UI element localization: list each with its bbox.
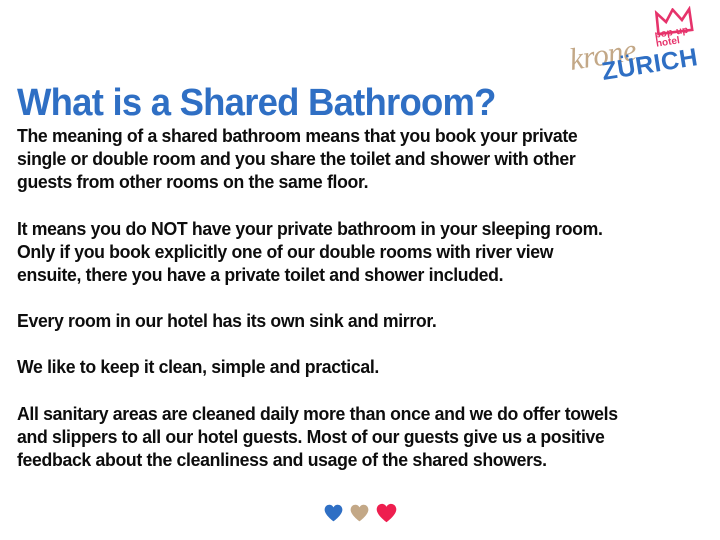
paragraph-clean-simple: We like to keep it clean, simple and pra… — [17, 355, 676, 378]
paragraph-sanitary: All sanitary areas are cleaned daily mor… — [17, 402, 676, 472]
paragraph-line: We like to keep it clean, simple and pra… — [17, 355, 676, 378]
paragraph-line: feedback about the cleanliness and usage… — [17, 448, 676, 471]
heart-icon-tan — [350, 504, 369, 522]
krone-zurich-logo: pop-up hotel krone ZÜRICH — [566, 2, 720, 100]
paragraph-line: It means you do NOT have your private ba… — [17, 217, 676, 240]
body-content: The meaning of a shared bathroom means t… — [17, 124, 707, 471]
paragraph-line: and slippers to all our hotel guests. Mo… — [17, 425, 676, 448]
paragraph-line: Only if you book explicitly one of our d… — [17, 240, 676, 263]
paragraph-sink-mirror: Every room in our hotel has its own sink… — [17, 309, 676, 332]
footer-hearts — [0, 503, 720, 523]
paragraph-not-private: It means you do NOT have your private ba… — [17, 217, 676, 287]
paragraph-line: Every room in our hotel has its own sink… — [17, 309, 676, 332]
paragraph-line: All sanitary areas are cleaned daily mor… — [17, 402, 676, 425]
paragraph-definition: The meaning of a shared bathroom means t… — [17, 124, 676, 194]
slide-canvas: pop-up hotel krone ZÜRICH What is a Shar… — [0, 0, 720, 540]
paragraph-line: guests from other rooms on the same floo… — [17, 170, 676, 193]
paragraph-line: ensuite, there you have a private toilet… — [17, 263, 676, 286]
paragraph-line: The meaning of a shared bathroom means t… — [17, 124, 676, 147]
paragraph-line: single or double room and you share the … — [17, 147, 676, 170]
heart-icon-blue — [324, 504, 343, 522]
page-title: What is a Shared Bathroom? — [17, 82, 496, 124]
heart-icon-pink — [376, 503, 397, 523]
